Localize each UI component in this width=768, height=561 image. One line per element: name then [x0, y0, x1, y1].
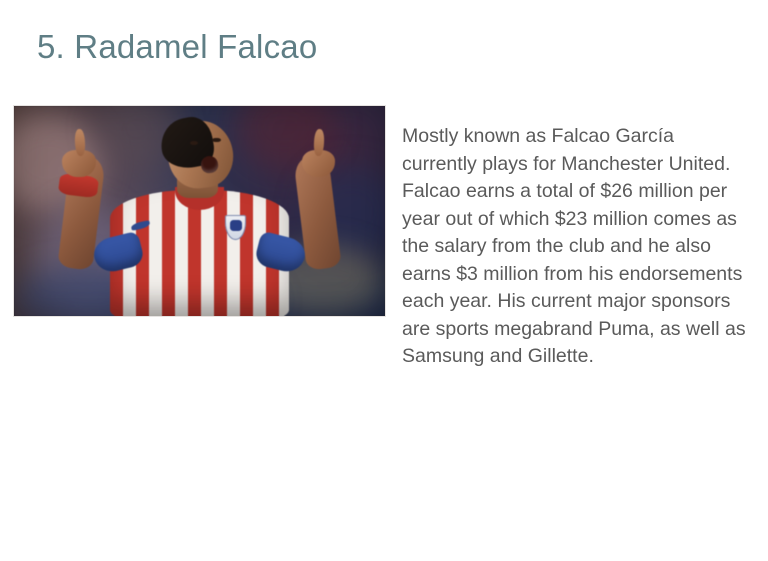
body-paragraph: Mostly known as Falcao García currently …	[402, 123, 746, 371]
player-figure	[14, 106, 385, 316]
left-index-finger	[74, 129, 85, 157]
page-title: 5. Radamel Falcao	[37, 26, 317, 67]
slide: 5. Radamel Falcao	[0, 0, 768, 561]
photo-canvas	[14, 106, 385, 316]
player-photo	[14, 106, 385, 316]
eye	[212, 138, 220, 143]
